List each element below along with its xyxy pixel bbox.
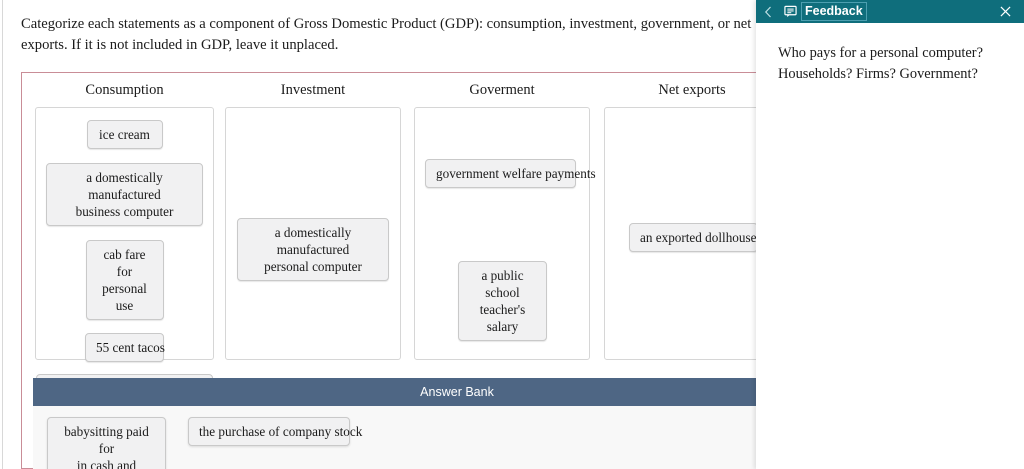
tile-label-line-1: a public school (481, 268, 523, 300)
feedback-panel-header: Feedback (756, 0, 1024, 23)
dropzone-investment[interactable]: a domestically manufactured personal com… (225, 107, 401, 360)
categorization-activity: Consumption ice cream a domestically man… (21, 72, 881, 469)
feedback-panel: Feedback Who pays for a personal compute… (756, 0, 1024, 469)
tile-label-line-1: a domestically manufactured (86, 170, 163, 202)
dropzone-net-exports[interactable]: an exported dollhouse (604, 107, 780, 360)
tile-welfare-payments[interactable]: government welfare payments (425, 159, 576, 188)
speech-bubble-icon (780, 0, 800, 23)
feedback-body: Who pays for a personal computer? Househ… (756, 23, 1024, 85)
tile-55-cent-tacos[interactable]: 55 cent tacos (85, 333, 164, 362)
category-column-net-exports: Net exports an exported dollhouse (604, 73, 780, 360)
tile-label-line-2: in cash and unreported (77, 458, 136, 469)
column-title-net-exports: Net exports (604, 73, 780, 103)
feedback-text-line-1: Who pays for a personal computer? (778, 43, 1006, 64)
dropzone-consumption[interactable]: ice cream a domestically manufactured bu… (35, 107, 214, 360)
answer-bank-body[interactable]: babysitting paid for in cash and unrepor… (33, 406, 881, 469)
answer-bank-title: Answer Bank (420, 385, 494, 399)
column-title-government: Goverment (414, 73, 590, 103)
tile-cab-fare[interactable]: cab fare for personal use (86, 240, 164, 320)
column-title-investment: Investment (225, 73, 401, 103)
answer-bank-header: Answer Bank (33, 378, 881, 406)
tile-label-line-2: business computer (76, 204, 174, 219)
chevron-left-icon[interactable] (756, 0, 780, 23)
tile-label: government welfare payments (436, 166, 596, 181)
question-stem: Categorize each statements as a componen… (21, 14, 756, 56)
tile-label-line-2: teacher's salary (480, 302, 526, 334)
tile-label-line-2: personal use (102, 281, 147, 313)
column-title-consumption: Consumption (35, 73, 214, 103)
stem-line-1: Categorize each statements as a componen… (21, 16, 751, 32)
tile-business-computer[interactable]: a domestically manufactured business com… (46, 163, 203, 226)
stem-line-2: exports. If it is not included in GDP, l… (21, 35, 756, 56)
answer-bank-tiles: babysitting paid for in cash and unrepor… (47, 417, 350, 469)
category-column-government: Goverment government welfare payments a … (414, 73, 590, 360)
tile-company-stock[interactable]: the purchase of company stock (188, 417, 350, 446)
tile-label-line-1: babysitting paid for (64, 424, 149, 456)
tile-label: an exported dollhouse (640, 230, 756, 245)
page-left-rule (2, 0, 3, 469)
tile-label: the purchase of company stock (199, 424, 362, 439)
tile-label: ice cream (99, 127, 150, 142)
tile-ice-cream[interactable]: ice cream (87, 120, 163, 149)
tile-babysitting[interactable]: babysitting paid for in cash and unrepor… (47, 417, 166, 469)
category-columns: Consumption ice cream a domestically man… (22, 73, 882, 363)
close-icon[interactable] (994, 0, 1016, 23)
tile-label: 55 cent tacos (96, 340, 165, 355)
category-column-investment: Investment a domestically manufactured p… (225, 73, 401, 360)
tile-label-line-2: personal computer (264, 259, 362, 274)
feedback-panel-title[interactable]: Feedback (802, 3, 866, 20)
category-column-consumption: Consumption ice cream a domestically man… (35, 73, 214, 360)
tile-teacher-salary[interactable]: a public school teacher's salary (458, 261, 547, 341)
dropzone-government[interactable]: government welfare payments a public sch… (414, 107, 590, 360)
tile-label-line-1: a domestically manufactured (275, 225, 352, 257)
tile-label-line-1: cab fare for (103, 247, 145, 279)
feedback-text-line-2: Households? Firms? Government? (778, 64, 1006, 85)
activity-page: Categorize each statements as a componen… (0, 0, 1024, 469)
tile-exported-dollhouse[interactable]: an exported dollhouse (629, 223, 758, 252)
tile-personal-computer[interactable]: a domestically manufactured personal com… (237, 218, 389, 281)
